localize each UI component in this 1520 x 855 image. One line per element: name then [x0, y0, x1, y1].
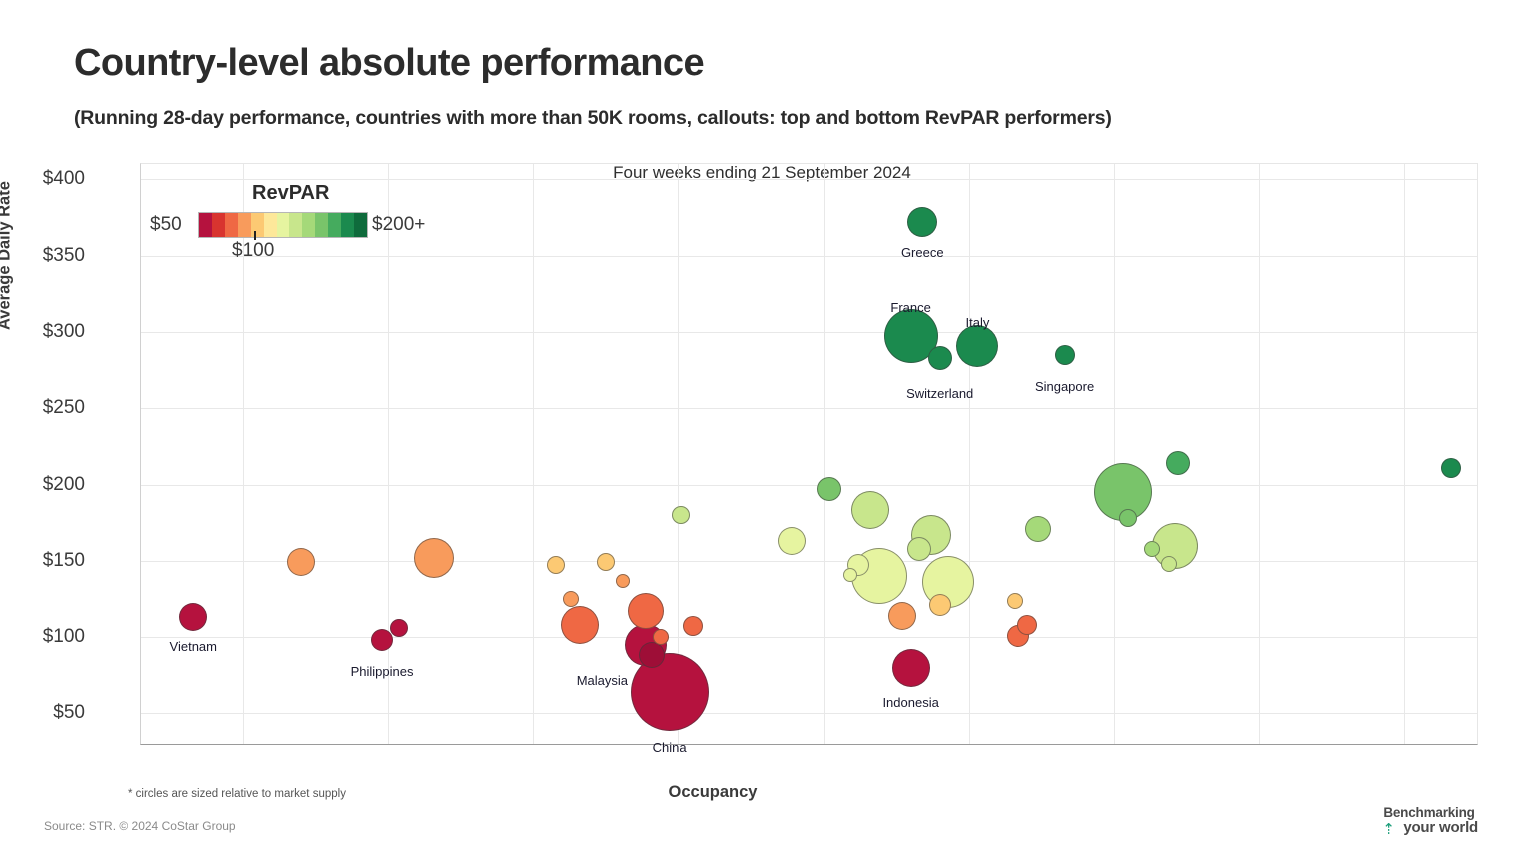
bubble-greece[interactable] — [907, 207, 937, 237]
bubble-point[interactable] — [672, 506, 690, 524]
legend-gradient-bar — [198, 212, 368, 238]
bubble-point[interactable] — [1166, 451, 1190, 475]
y-axis-tick-label: $350 — [5, 245, 85, 267]
upward-arrow-icon: ⇡ — [1382, 822, 1398, 837]
legend-color-band — [354, 213, 367, 237]
legend-color-band — [315, 213, 328, 237]
y-axis-tick-label: $100 — [5, 626, 85, 648]
size-footnote: * circles are sized relative to market s… — [128, 788, 346, 800]
bubble-point[interactable] — [1441, 458, 1461, 478]
bubble-point[interactable] — [547, 556, 565, 574]
gridline-horizontal — [141, 332, 1477, 333]
page-title: Country-level absolute performance — [74, 42, 704, 85]
legend-color-band — [251, 213, 264, 237]
legend-title: RevPAR — [252, 182, 329, 205]
y-axis-tick-label: $150 — [5, 550, 85, 572]
bubble-point[interactable] — [929, 594, 951, 616]
bubble-point[interactable] — [1161, 556, 1177, 572]
legend-min-label: $50 — [150, 214, 182, 236]
bubble-label-vietnam: Vietnam — [170, 639, 217, 654]
bubble-point[interactable] — [390, 619, 408, 637]
gridline-horizontal — [141, 561, 1477, 562]
bubble-label-indonesia: Indonesia — [882, 695, 938, 710]
bubble-point[interactable] — [1144, 541, 1160, 557]
bubble-vietnam[interactable] — [179, 603, 207, 631]
legend-color-band — [328, 213, 341, 237]
gridline-vertical — [388, 164, 389, 744]
y-axis-tick-label: $400 — [5, 168, 85, 190]
bubble-point[interactable] — [597, 553, 615, 571]
y-axis-footnote-marker: * — [0, 176, 6, 181]
brand-logo: ⇡ Benchmarking your world — [1383, 806, 1478, 836]
bubble-point[interactable] — [1119, 509, 1137, 527]
gridline-vertical — [1114, 164, 1115, 744]
page-subtitle: (Running 28-day performance, countries w… — [74, 107, 1112, 130]
logo-line-2: your world — [1403, 820, 1478, 836]
source-credit: Source: STR. © 2024 CoStar Group — [44, 819, 236, 833]
bubble-point[interactable] — [843, 568, 857, 582]
chart-page: Country-level absolute performance (Runn… — [0, 0, 1520, 855]
bubble-point[interactable] — [907, 537, 931, 561]
y-axis-label-text: Average Daily Rate — [0, 181, 14, 330]
legend-color-band — [302, 213, 315, 237]
legend-color-band — [289, 213, 302, 237]
bubble-point[interactable] — [287, 548, 315, 576]
legend-mid-label: $100 — [232, 240, 274, 262]
y-axis-tick-label: $250 — [5, 397, 85, 419]
bubble-philippines[interactable] — [371, 629, 393, 651]
bubble-italy[interactable] — [956, 325, 998, 367]
bubble-point[interactable] — [639, 642, 665, 668]
gridline-horizontal — [141, 637, 1477, 638]
bubble-label-switzerland: Switzerland — [906, 386, 973, 401]
gridline-vertical — [1259, 164, 1260, 744]
bubble-switzerland[interactable] — [928, 346, 952, 370]
bubble-label-italy: Italy — [966, 315, 990, 330]
gridline-horizontal — [141, 485, 1477, 486]
gridline-horizontal — [141, 408, 1477, 409]
bubble-label-greece: Greece — [901, 245, 944, 260]
bubble-point[interactable] — [628, 593, 664, 629]
y-axis-tick-label: $200 — [5, 474, 85, 496]
gridline-vertical — [824, 164, 825, 744]
legend-mid-tick — [254, 231, 256, 240]
bubble-label-malaysia: Malaysia — [577, 673, 628, 688]
bubble-singapore[interactable] — [1055, 345, 1075, 365]
gridline-vertical — [1404, 164, 1405, 744]
bubble-point[interactable] — [888, 602, 916, 630]
legend-color-band — [341, 213, 354, 237]
bubble-point[interactable] — [616, 574, 630, 588]
bubble-point[interactable] — [653, 629, 669, 645]
legend-color-band — [238, 213, 251, 237]
gridline-horizontal — [141, 179, 1477, 180]
legend-color-band — [225, 213, 238, 237]
legend-max-label: $200+ — [372, 214, 425, 236]
bubble-label-france: France — [890, 300, 930, 315]
y-axis-tick-label: $300 — [5, 321, 85, 343]
bubble-point[interactable] — [817, 477, 841, 501]
bubble-label-philippines: Philippines — [351, 664, 414, 679]
bubble-point[interactable] — [414, 538, 454, 578]
y-axis-tick-label: $50 — [5, 702, 85, 724]
bubble-point[interactable] — [1025, 516, 1051, 542]
logo-line-1: Benchmarking — [1383, 806, 1478, 820]
legend-color-band — [199, 213, 212, 237]
bubble-point[interactable] — [1017, 615, 1037, 635]
gridline-horizontal — [141, 713, 1477, 714]
bubble-indonesia[interactable] — [892, 649, 930, 687]
y-axis-label: Average Daily Rate* — [0, 176, 15, 330]
bubble-point[interactable] — [851, 491, 889, 529]
scatter-plot-area[interactable]: Four weeks ending 21 September 2024 $50$… — [140, 163, 1478, 745]
bubble-point[interactable] — [561, 606, 599, 644]
bubble-point[interactable] — [1007, 593, 1023, 609]
bubble-label-china: China — [653, 740, 687, 755]
legend-color-band — [264, 213, 277, 237]
gridline-vertical — [533, 164, 534, 744]
bubble-point[interactable] — [778, 527, 806, 555]
gridline-horizontal — [141, 256, 1477, 257]
legend-color-band — [277, 213, 290, 237]
bubble-point[interactable] — [683, 616, 703, 636]
legend-color-band — [212, 213, 225, 237]
bubble-label-singapore: Singapore — [1035, 379, 1094, 394]
gridline-vertical — [969, 164, 970, 744]
bubble-point[interactable] — [563, 591, 579, 607]
